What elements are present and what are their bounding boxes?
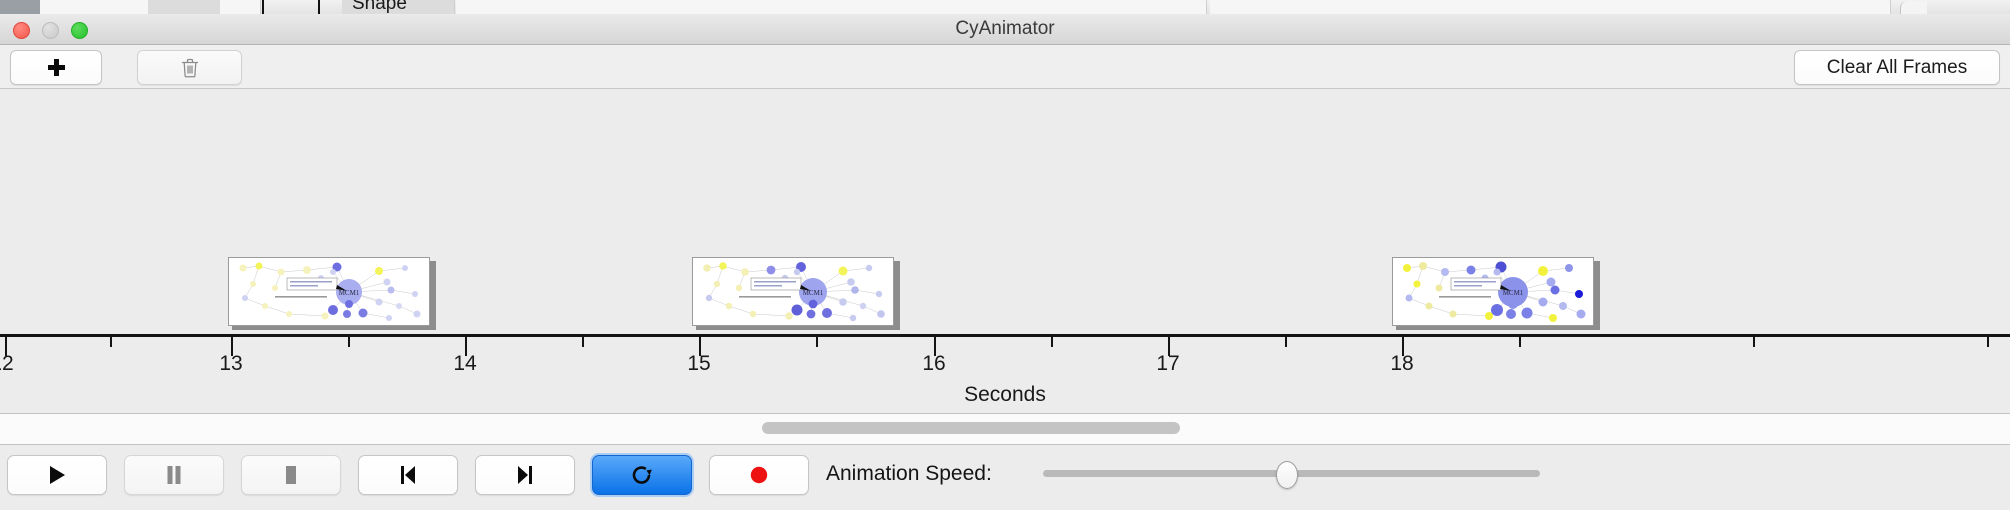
ruler-tick-label: 15 <box>687 352 710 376</box>
bg-segment <box>1210 0 1891 14</box>
ruler-minor-tick <box>1753 337 1755 347</box>
timeline-ruler <box>0 334 2010 337</box>
animation-speed-slider[interactable] <box>1043 455 1540 493</box>
titlebar: CyAnimator <box>0 14 2010 45</box>
stop-button[interactable] <box>241 455 341 495</box>
ruler-tick-label: 12 <box>0 352 14 376</box>
ruler-minor-tick <box>1051 337 1053 347</box>
axis-title: Seconds <box>0 383 2010 407</box>
network-graph-icon: MCM1 <box>1393 258 1593 325</box>
toolbar: Clear All Frames <box>0 45 2010 89</box>
window-title: CyAnimator <box>0 14 2010 44</box>
skip-to-end-button[interactable] <box>475 455 575 495</box>
ruler-minor-tick <box>348 337 350 347</box>
ruler-minor-tick <box>582 337 584 347</box>
slider-thumb[interactable] <box>1276 461 1298 489</box>
bg-segment <box>148 0 221 14</box>
record-button[interactable] <box>709 455 809 495</box>
clear-all-frames-button[interactable]: Clear All Frames <box>1794 50 2000 85</box>
skip-start-icon <box>398 464 418 486</box>
skip-to-start-button[interactable] <box>358 455 458 495</box>
ruler-minor-tick <box>816 337 818 347</box>
bg-segment <box>220 0 261 14</box>
bg-segment <box>456 0 1207 14</box>
delete-frame-button[interactable] <box>137 50 242 85</box>
bg-divider <box>318 0 320 14</box>
timeline-frame[interactable]: MCM1 <box>692 257 900 330</box>
animation-speed-label: Animation Speed: <box>826 455 992 493</box>
playback-bar: Animation Speed: <box>0 445 2010 510</box>
timeline-panel[interactable]: MCM1 <box>0 89 2010 414</box>
clear-all-frames-label: Clear All Frames <box>1827 57 1967 79</box>
ruler-minor-tick <box>110 337 112 347</box>
frame-thumbnail: MCM1 <box>692 257 894 326</box>
svg-text:MCM1: MCM1 <box>803 289 824 297</box>
trash-icon <box>181 58 199 78</box>
horizontal-scrollbar[interactable] <box>0 414 2010 445</box>
bg-segment <box>0 0 41 14</box>
ruler-tick-label: 17 <box>1156 352 1179 376</box>
play-icon <box>47 464 67 486</box>
ruler-tick-label: 14 <box>453 352 476 376</box>
frame-thumbnail: MCM1 <box>228 257 430 326</box>
network-graph-icon: MCM1 <box>229 258 429 325</box>
add-frame-button[interactable] <box>10 50 102 85</box>
ruler-tick-label: 13 <box>219 352 242 376</box>
bg-divider <box>262 0 264 14</box>
scrollbar-thumb[interactable] <box>762 422 1180 434</box>
background-window-label: Shape <box>352 0 407 14</box>
bg-segment <box>40 0 149 14</box>
loop-icon <box>630 463 654 487</box>
pause-icon <box>165 464 183 486</box>
svg-text:MCM1: MCM1 <box>339 289 360 297</box>
frame-thumbnail: MCM1 <box>1392 257 1594 326</box>
ruler-tick-label: 16 <box>922 352 945 376</box>
svg-text:MCM1: MCM1 <box>1503 289 1524 297</box>
ruler-tick-label: 18 <box>1390 352 1413 376</box>
play-button[interactable] <box>7 455 107 495</box>
ruler-minor-tick <box>1285 337 1287 347</box>
background-window-strip: Shape <box>0 0 2010 14</box>
plus-icon <box>48 59 65 76</box>
timeline-frame[interactable]: MCM1 <box>1392 257 1600 330</box>
pause-button[interactable] <box>124 455 224 495</box>
skip-end-icon <box>515 464 535 486</box>
timeline-frame[interactable]: MCM1 <box>228 257 436 330</box>
network-graph-icon: MCM1 <box>693 258 893 325</box>
ruler-minor-tick <box>1987 337 1989 347</box>
cyanimator-window: Shape CyAnimator Clear All Frames <box>0 0 2010 510</box>
bg-window-corner <box>1900 1 1927 14</box>
ruler-minor-tick <box>1519 337 1521 347</box>
loop-button[interactable] <box>592 455 692 495</box>
record-icon <box>748 464 770 486</box>
stop-icon <box>281 464 301 486</box>
